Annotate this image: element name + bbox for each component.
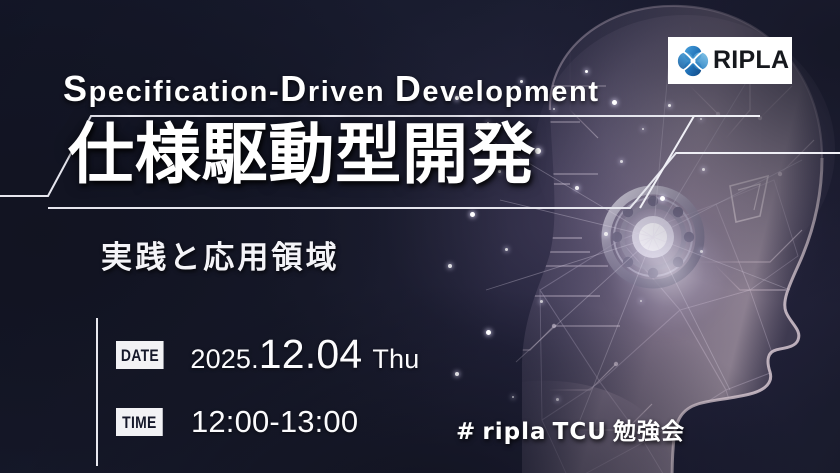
hashtag-org: TCU: [553, 419, 607, 445]
time-value: 12:00-13:00: [191, 404, 358, 440]
date-day: 12.04: [259, 331, 363, 378]
ripla-logo[interactable]: RIPLA: [668, 37, 792, 84]
time-badge: TIME: [116, 408, 163, 436]
event-banner: Specification-Driven Development 仕様駆動型開発…: [0, 0, 840, 473]
date-value: 2025. 12.04 Thu: [190, 331, 419, 378]
ripla-wordmark: RIPLA: [713, 48, 789, 73]
hashtag-symbol: #: [456, 419, 476, 445]
event-hashtag: #riplaTCU勉強会: [456, 412, 685, 446]
time-row: TIME 12:00-13:00: [116, 404, 358, 440]
info-vertical-rule: [96, 318, 98, 466]
japanese-title: 仕様駆動型開発: [68, 122, 536, 188]
japanese-subtitle: 実践と応用領域: [101, 232, 340, 277]
date-row: DATE 2025. 12.04 Thu: [116, 331, 419, 378]
english-title-text: Specification-Driven Development: [63, 76, 600, 108]
english-title: Specification-Driven Development: [63, 68, 600, 110]
hashtag-handle: ripla: [482, 419, 546, 445]
date-badge: DATE: [116, 341, 164, 369]
ripla-node-mark-icon: [675, 43, 711, 79]
date-weekday: Thu: [372, 344, 419, 375]
time-range: 12:00-13:00: [191, 404, 358, 440]
hashtag-event: 勉強会: [613, 419, 685, 445]
date-year: 2025.: [190, 344, 258, 375]
